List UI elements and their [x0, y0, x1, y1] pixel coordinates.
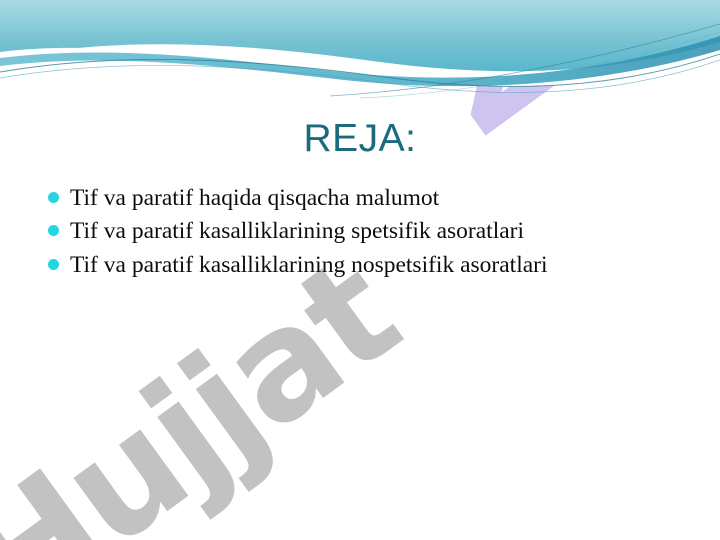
bullet-dot-icon [48, 192, 59, 203]
presentation-slide: 24 Hujjat [0, 0, 720, 540]
list-item: Tif va paratif kasalliklarining nospetsi… [44, 249, 692, 281]
header-teal-ribbon [0, 36, 720, 86]
title-block: REJA: [0, 92, 720, 187]
header-thin-curve-4 [360, 32, 720, 98]
list-item-label: Tif va paratif kasalliklarining spetsifi… [70, 215, 692, 247]
list-item-label: Tif va paratif haqida qisqacha malumot [70, 182, 692, 214]
header-white-ribbon [0, 44, 720, 87]
list-item: Tif va paratif kasalliklarining spetsifi… [44, 215, 692, 247]
header-thin-curve-3 [330, 24, 720, 96]
bullet-list: Tif va paratif haqida qisqacha malumot T… [44, 182, 692, 282]
list-item: Tif va paratif haqida qisqacha malumot [44, 182, 692, 214]
page-title: REJA: [303, 118, 416, 161]
bullet-dot-icon [48, 225, 59, 236]
header-teal-shape [0, 0, 720, 77]
header-thin-curve-1 [0, 54, 720, 86]
header-thin-curve-2 [0, 60, 720, 92]
bullet-dot-icon [48, 259, 59, 270]
list-item-label: Tif va paratif kasalliklarining nospetsi… [70, 249, 692, 281]
